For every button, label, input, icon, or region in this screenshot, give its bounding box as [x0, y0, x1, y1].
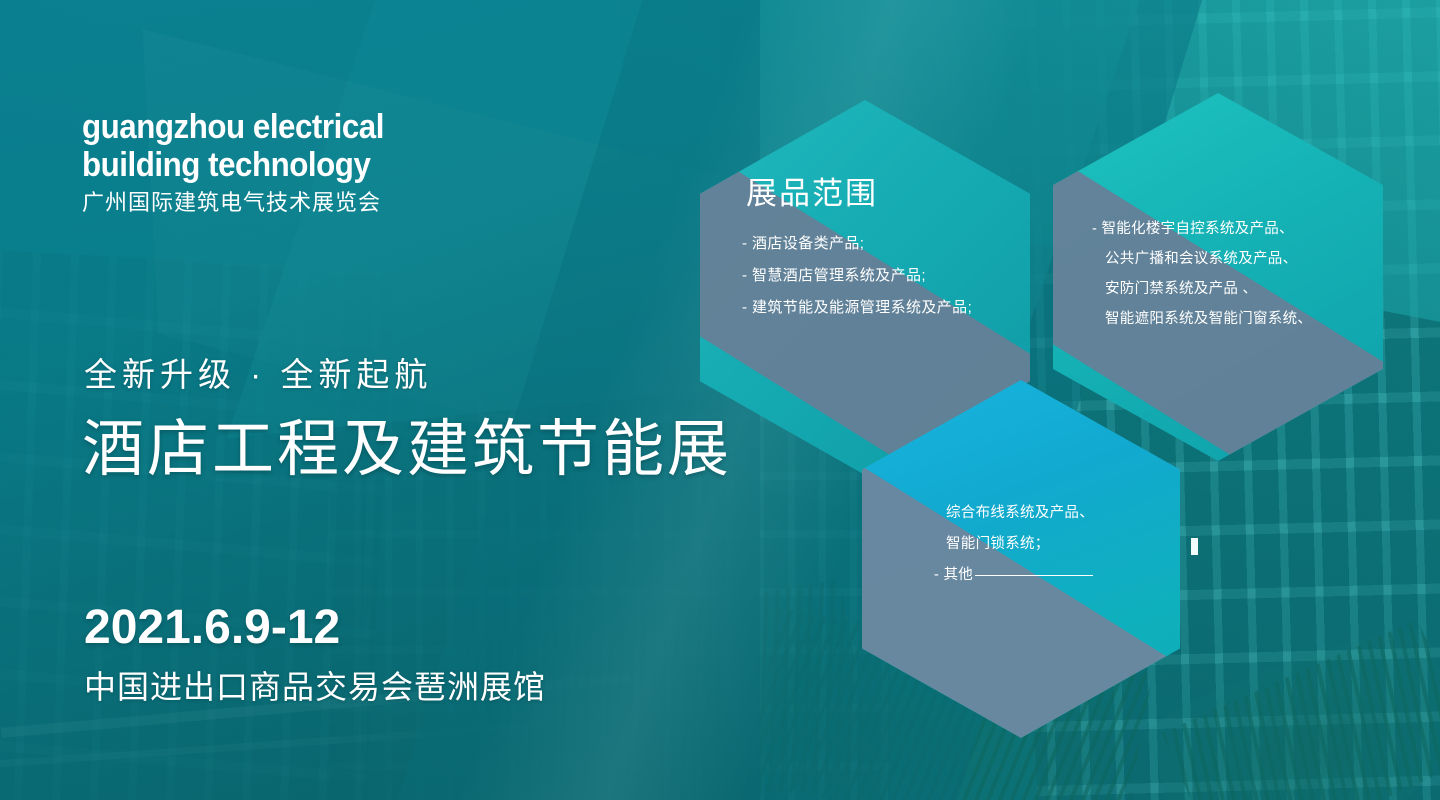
list-item: 智能门锁系统； [934, 529, 1094, 560]
list-item: - 智慧酒店管理系统及产品; [742, 260, 972, 292]
photo-highlight-speck [1191, 538, 1198, 555]
smart-building-list: - 智能化楼宇自控系统及产品、 公共广播和会议系统及产品、 安防门禁系统及产品 … [1092, 214, 1312, 334]
other-label: - 其他 [934, 567, 973, 583]
logo-line-2: building technology [82, 146, 560, 184]
headline-subtitle: 全新升级 · 全新起航 [84, 348, 432, 396]
exhibition-promo-banner: guangzhou electrical building technology… [0, 0, 1440, 800]
list-item: 安防门禁系统及产品 、 [1092, 274, 1312, 304]
fill-in-blank-rule [975, 575, 1093, 576]
list-item: 综合布线系统及产品、 [934, 498, 1094, 529]
list-item-other: - 其他 [934, 560, 1094, 591]
headline-title: 酒店工程及建筑节能展 [82, 398, 732, 488]
list-item: 智能遮阳系统及智能门窗系统、 [1092, 304, 1312, 334]
event-venue: 中国进出口商品交易会琶洲展馆 [84, 662, 546, 708]
logo-chinese-name: 广州国际建筑电气技术展览会 [82, 188, 602, 218]
event-logo: guangzhou electrical building technology… [82, 108, 602, 218]
exhibit-scope-list: - 酒店设备类产品; - 智慧酒店管理系统及产品; - 建筑节能及能源管理系统及… [742, 228, 972, 324]
list-item: - 酒店设备类产品; [742, 228, 972, 260]
hexagon-title-exhibit-scope: 展品范围 [746, 168, 878, 213]
cabling-locks-list: 综合布线系统及产品、 智能门锁系统； - 其他 [934, 498, 1094, 591]
list-item: 公共广播和会议系统及产品、 [1092, 244, 1312, 274]
logo-line-1: guangzhou electrical [82, 108, 560, 146]
list-item: - 智能化楼宇自控系统及产品、 [1092, 214, 1312, 244]
event-date: 2021.6.9-12 [84, 600, 340, 655]
list-item: - 建筑节能及能源管理系统及产品; [742, 292, 972, 324]
